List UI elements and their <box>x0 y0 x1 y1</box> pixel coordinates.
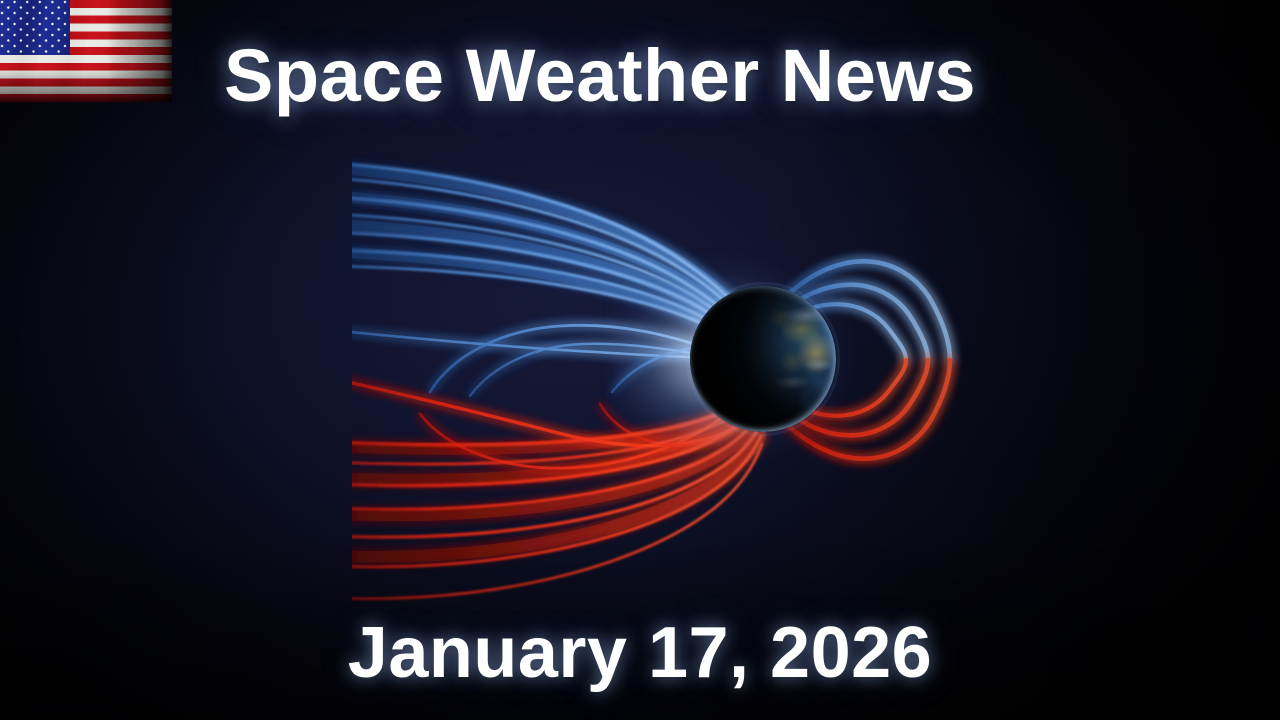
page-title: Space Weather News <box>224 33 976 118</box>
flag-edge-fade <box>0 0 172 102</box>
united-states-flag <box>0 0 172 102</box>
slide-canvas: Space Weather News January 17, 2026 <box>0 0 1280 720</box>
broadcast-date: January 17, 2026 <box>0 612 1280 694</box>
